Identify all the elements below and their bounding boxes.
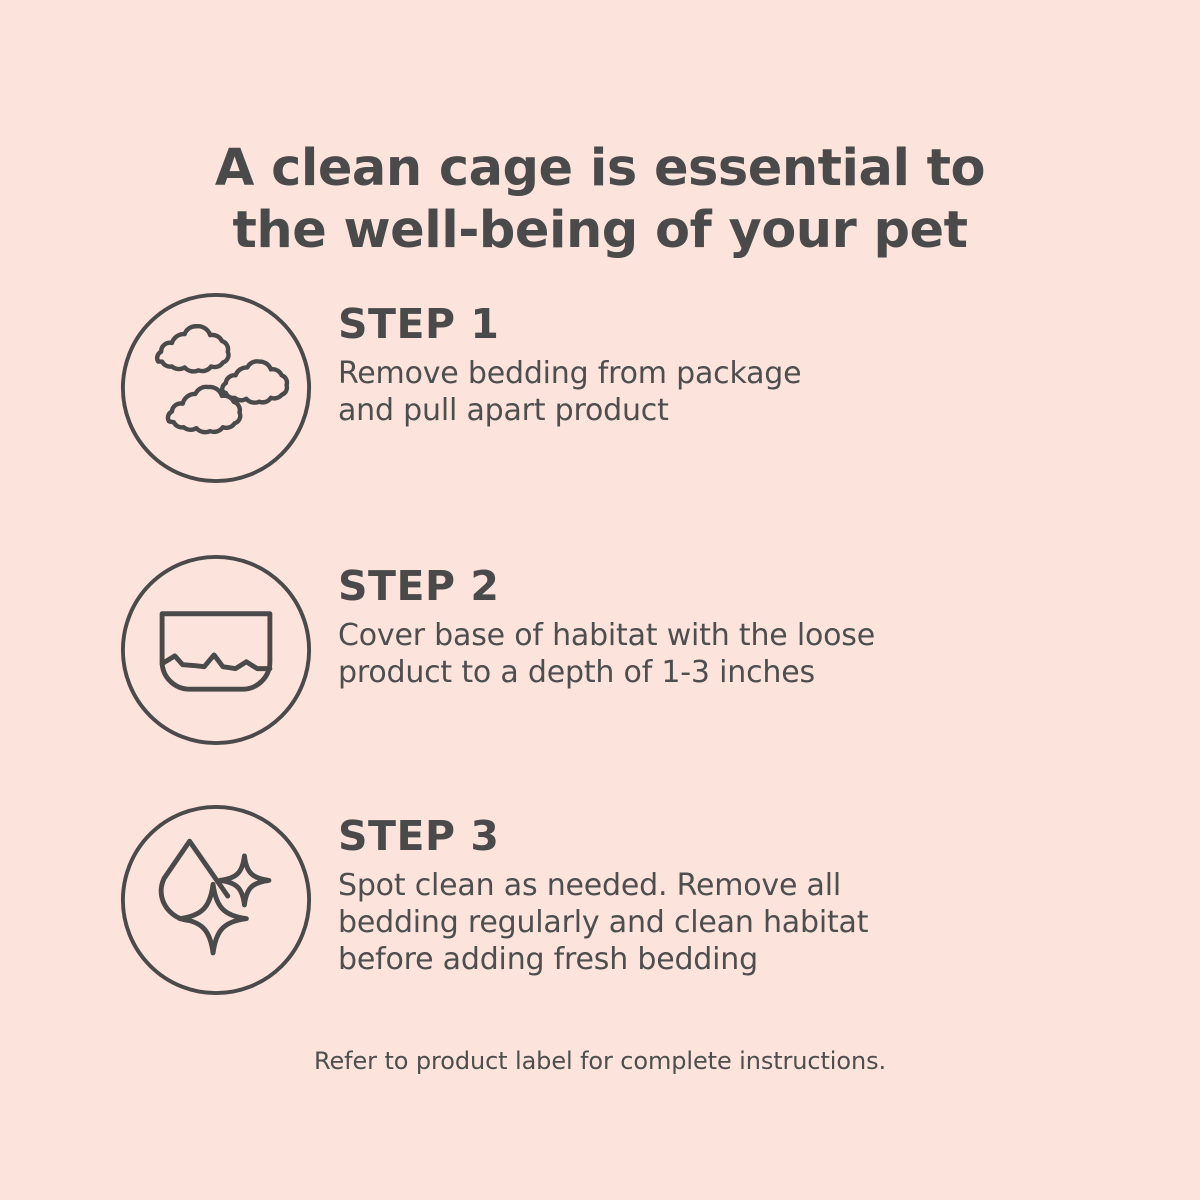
step-3-title: STEP 3	[338, 814, 1200, 858]
step-1-title: STEP 1	[338, 302, 1200, 346]
step-3-text: STEP 3 Spot clean as needed. Remove all …	[330, 790, 1200, 978]
step-3-icon-wrap	[118, 790, 330, 998]
step-item-2: STEP 2 Cover base of habitat with the lo…	[0, 540, 1200, 790]
step-1-text: STEP 1 Remove bedding from package and p…	[330, 278, 1200, 429]
footer-disclaimer: Refer to product label for complete inst…	[0, 1046, 1200, 1076]
step-2-description: Cover base of habitat with the loose pro…	[338, 617, 1200, 691]
step-2-title: STEP 2	[338, 564, 1200, 608]
habitat-tub-icon	[118, 552, 314, 748]
step-item-1: STEP 1 Remove bedding from package and p…	[0, 278, 1200, 540]
step-1-description: Remove bedding from package and pull apa…	[338, 355, 1200, 429]
step-2-icon-wrap	[118, 540, 330, 748]
steps-list: STEP 1 Remove bedding from package and p…	[0, 278, 1200, 1045]
bedding-clouds-icon	[118, 290, 314, 486]
page-title: A clean cage is essential to the well-be…	[0, 138, 1200, 262]
step-3-description: Spot clean as needed. Remove all bedding…	[338, 867, 1200, 978]
droplet-sparkle-icon	[118, 802, 314, 998]
step-2-text: STEP 2 Cover base of habitat with the lo…	[330, 540, 1200, 691]
step-1-icon-wrap	[118, 278, 330, 486]
step-item-3: STEP 3 Spot clean as needed. Remove all …	[0, 790, 1200, 1045]
infographic-page: A clean cage is essential to the well-be…	[0, 0, 1200, 1200]
